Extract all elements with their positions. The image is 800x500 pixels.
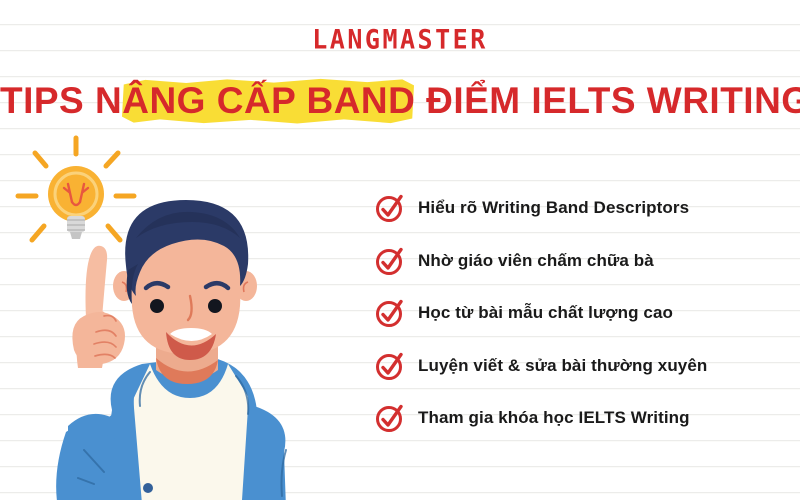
list-item-label: Nhờ giáo viên chấm chữa bà [418,251,654,271]
list-item-label: Hiểu rõ Writing Band Descriptors [418,198,689,218]
check-circle-icon [374,246,404,276]
index-finger [86,246,108,318]
list-item: Nhờ giáo viên chấm chữa bà [374,235,784,288]
list-item: Tham gia khóa học IELTS Writing [374,392,784,445]
check-circle-icon [374,403,404,433]
headline-block: TIPS NÂNG CẤP BAND ĐIỂM IELTS WRITING [0,74,800,128]
check-circle-icon [374,351,404,381]
list-item: Học từ bài mẫu chất lượng cao [374,287,784,340]
check-circle-icon [374,193,404,223]
poster-canvas: LANGMASTER TIPS NÂNG CẤP BAND ĐIỂM IELTS… [0,0,800,500]
check-circle-icon [374,298,404,328]
list-item: Hiểu rõ Writing Band Descriptors [374,182,784,235]
page-title: TIPS NÂNG CẤP BAND ĐIỂM IELTS WRITING [0,74,800,128]
list-item-label: Tham gia khóa học IELTS Writing [418,408,690,428]
list-item-label: Học từ bài mẫu chất lượng cao [418,303,673,323]
brand-logo-langmaster: LANGMASTER [0,24,800,55]
tips-checklist: Hiểu rõ Writing Band Descriptors Nhờ giá… [374,182,784,445]
jacket-button [143,483,153,493]
eye-left [150,299,164,313]
fist [72,312,125,365]
illustration-man-with-lightbulb [0,120,330,500]
eye-right [208,299,222,313]
list-item: Luyện viết & sửa bài thường xuyên [374,340,784,393]
list-item-label: Luyện viết & sửa bài thường xuyên [418,356,707,376]
